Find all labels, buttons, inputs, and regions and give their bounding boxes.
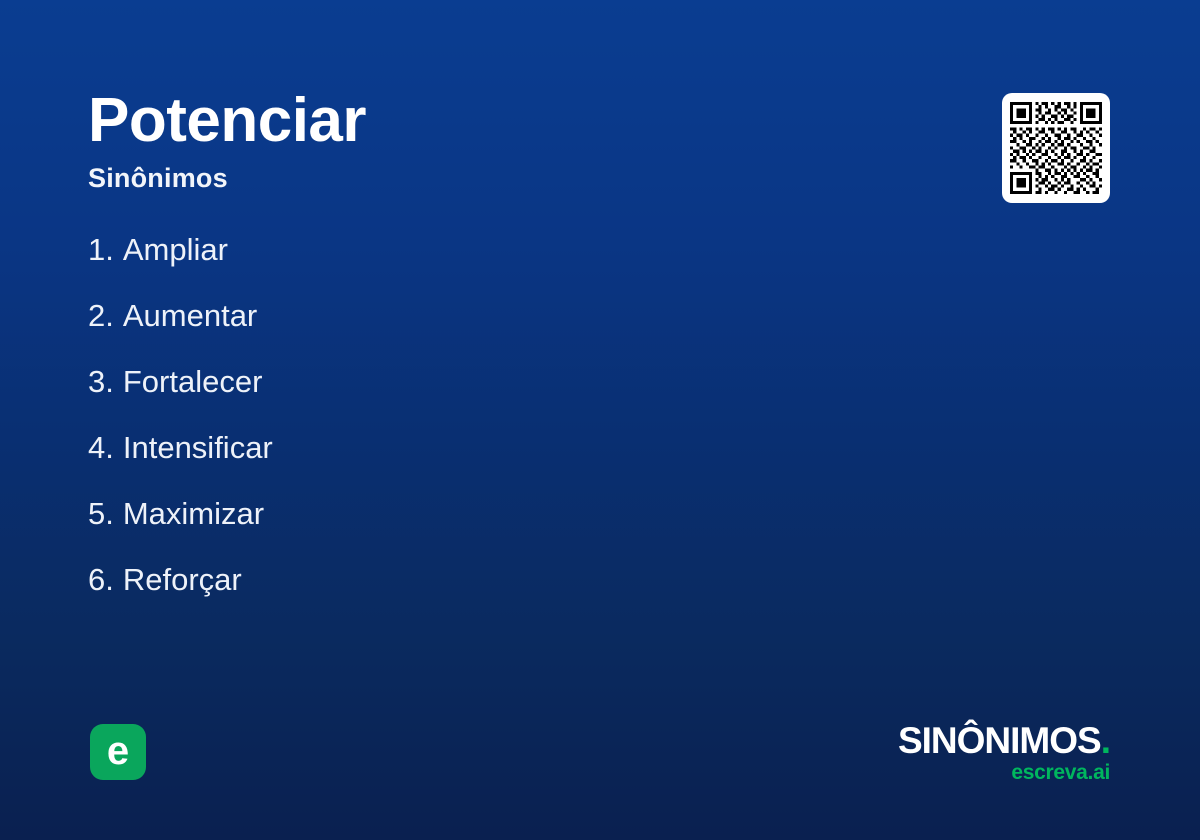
list-item-word: Ampliar bbox=[123, 234, 228, 265]
brand-name: SINÔNIMOS. bbox=[898, 722, 1110, 759]
list-item-word: Maximizar bbox=[123, 498, 264, 529]
brand-domain: escreva.ai bbox=[898, 762, 1110, 783]
qr-code[interactable] bbox=[1002, 93, 1110, 203]
list-item-index: 5. bbox=[88, 498, 114, 529]
list-item-word: Intensificar bbox=[123, 432, 273, 463]
list-item: 2. Aumentar bbox=[88, 300, 273, 366]
list-item: 1. Ampliar bbox=[88, 234, 273, 300]
list-item-word: Aumentar bbox=[123, 300, 257, 331]
escreva-logo-letter: e bbox=[107, 731, 129, 771]
synonym-card: Potenciar Sinônimos bbox=[0, 0, 1200, 840]
brand-dot-icon: . bbox=[1101, 720, 1110, 761]
brand-name-text: SINÔNIMOS bbox=[898, 720, 1101, 761]
list-item: 5. Maximizar bbox=[88, 498, 273, 564]
synonym-list: 1. Ampliar 2. Aumentar 3. Fortalecer 4. … bbox=[88, 234, 273, 630]
list-item: 6. Reforçar bbox=[88, 564, 273, 630]
list-item-index: 3. bbox=[88, 366, 114, 397]
header: Potenciar Sinônimos bbox=[88, 88, 366, 194]
list-item-word: Reforçar bbox=[123, 564, 242, 595]
list-item-word: Fortalecer bbox=[123, 366, 263, 397]
list-item-index: 6. bbox=[88, 564, 114, 595]
page-subtitle: Sinônimos bbox=[88, 163, 366, 194]
list-item-index: 1. bbox=[88, 234, 114, 265]
list-item-index: 4. bbox=[88, 432, 114, 463]
list-item: 4. Intensificar bbox=[88, 432, 273, 498]
escreva-logo[interactable]: e bbox=[90, 724, 146, 780]
brand-lockup: SINÔNIMOS. escreva.ai bbox=[898, 722, 1110, 783]
qr-code-icon bbox=[1010, 101, 1102, 195]
list-item-index: 2. bbox=[88, 300, 114, 331]
list-item: 3. Fortalecer bbox=[88, 366, 273, 432]
page-title: Potenciar bbox=[88, 88, 366, 153]
